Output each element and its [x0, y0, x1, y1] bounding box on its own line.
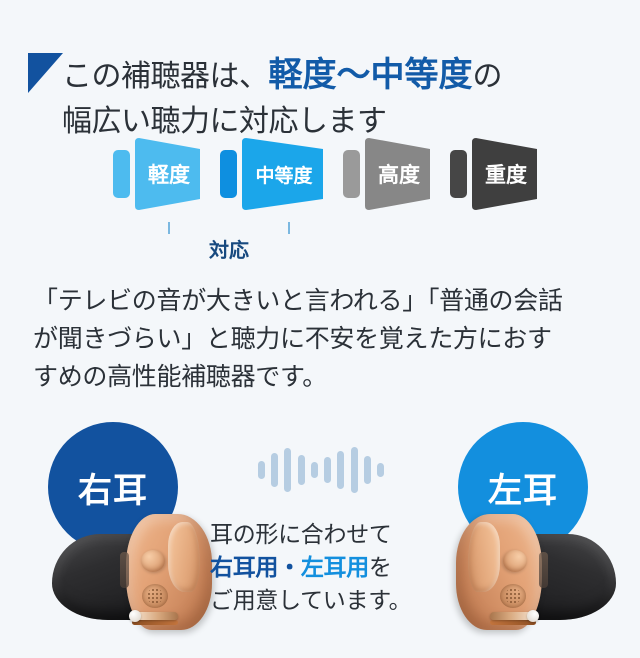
- copy-line-3: ご用意しています。: [210, 584, 432, 617]
- sound-wave-graphic: [258, 446, 384, 494]
- severity-item-2: 中等度: [220, 138, 326, 210]
- severity-tab: [450, 150, 467, 198]
- severity-label: 重度: [472, 138, 540, 210]
- heading-line-2: 幅広い聴力に対応します: [62, 102, 387, 142]
- wave-bar-5: [311, 462, 318, 478]
- device-microphone-grille: [142, 584, 168, 608]
- device-microphone-grille: [500, 584, 526, 608]
- severity-tab: [220, 150, 237, 198]
- wave-bar-6: [324, 457, 331, 483]
- device-removal-handle: [134, 612, 178, 620]
- device-vent: [120, 552, 129, 588]
- severity-tab: [113, 150, 130, 198]
- wave-bar-2: [271, 453, 278, 487]
- severity-item-3: 高度: [343, 138, 433, 210]
- device-ridge: [468, 522, 500, 592]
- severity-tab: [343, 150, 360, 198]
- right-ear-hearing-aid-photo: [48, 508, 228, 638]
- paragraph-line-3: すめの高性能補聴器です。: [33, 358, 613, 396]
- severity-label: 軽度: [135, 138, 203, 210]
- wave-bar-4: [298, 455, 305, 485]
- wave-bar-10: [377, 463, 384, 477]
- heading-text-before: この補聴器は、: [62, 60, 269, 93]
- copy-separator-dot: ・: [278, 554, 301, 580]
- severity-scale: 軽度中等度高度重度: [0, 138, 640, 218]
- right-ear-badge-label: 右耳: [78, 463, 148, 512]
- coverage-bracket-label: 対応: [168, 234, 290, 263]
- severity-label: 高度: [365, 138, 433, 210]
- copy-particle: を: [369, 554, 392, 580]
- copy-line-2: 右耳用・左耳用を: [210, 551, 432, 584]
- heading-text-after: の: [473, 60, 503, 93]
- left-ear-hearing-aid-photo: [440, 508, 620, 638]
- wave-bar-8: [351, 447, 358, 493]
- heading-line-1: この補聴器は、軽度～中等度の: [62, 55, 502, 97]
- ear-options-section: 右耳 耳の形に合わせて 右耳用・左耳用を ご用意しています。 左耳: [0, 408, 640, 658]
- triangle-marker-icon: [28, 53, 63, 93]
- description-paragraph: 「テレビの音が大きいと言われる」「普通の会話 が聞きづらい」と聴力に不安を覚えた…: [33, 282, 613, 396]
- device-ridge: [168, 522, 200, 592]
- copy-line-1: 耳の形に合わせて: [210, 518, 432, 551]
- device-button: [503, 550, 527, 572]
- wave-bar-1: [258, 461, 265, 479]
- device-battery-slot: [132, 620, 178, 625]
- heading-accent-text: 軽度～中等度: [269, 56, 473, 94]
- paragraph-line-1: 「テレビの音が大きいと言われる」「普通の会話: [33, 282, 613, 320]
- left-ear-badge-label: 左耳: [488, 463, 558, 512]
- severity-item-1: 軽度: [113, 138, 203, 210]
- paragraph-line-2: が聞きづらい」と聴力に不安を覚えた方におす: [33, 320, 613, 358]
- copy-left-ear-type: 左耳用: [301, 554, 369, 580]
- ear-options-copy: 耳の形に合わせて 右耳用・左耳用を ご用意しています。: [210, 518, 432, 617]
- wave-bar-9: [364, 456, 371, 484]
- device-removal-handle: [490, 612, 534, 620]
- severity-item-4: 重度: [450, 138, 540, 210]
- wave-bar-7: [337, 451, 344, 489]
- device-vent: [539, 552, 548, 588]
- device-button: [141, 550, 165, 572]
- infographic-page: この補聴器は、軽度～中等度の 幅広い聴力に対応します 軽度中等度高度重度 対応 …: [0, 0, 640, 658]
- severity-label: 中等度: [242, 138, 326, 210]
- copy-right-ear-type: 右耳用: [210, 554, 278, 580]
- wave-bar-3: [284, 448, 291, 492]
- heading-block: この補聴器は、軽度～中等度の 幅広い聴力に対応します: [0, 22, 640, 132]
